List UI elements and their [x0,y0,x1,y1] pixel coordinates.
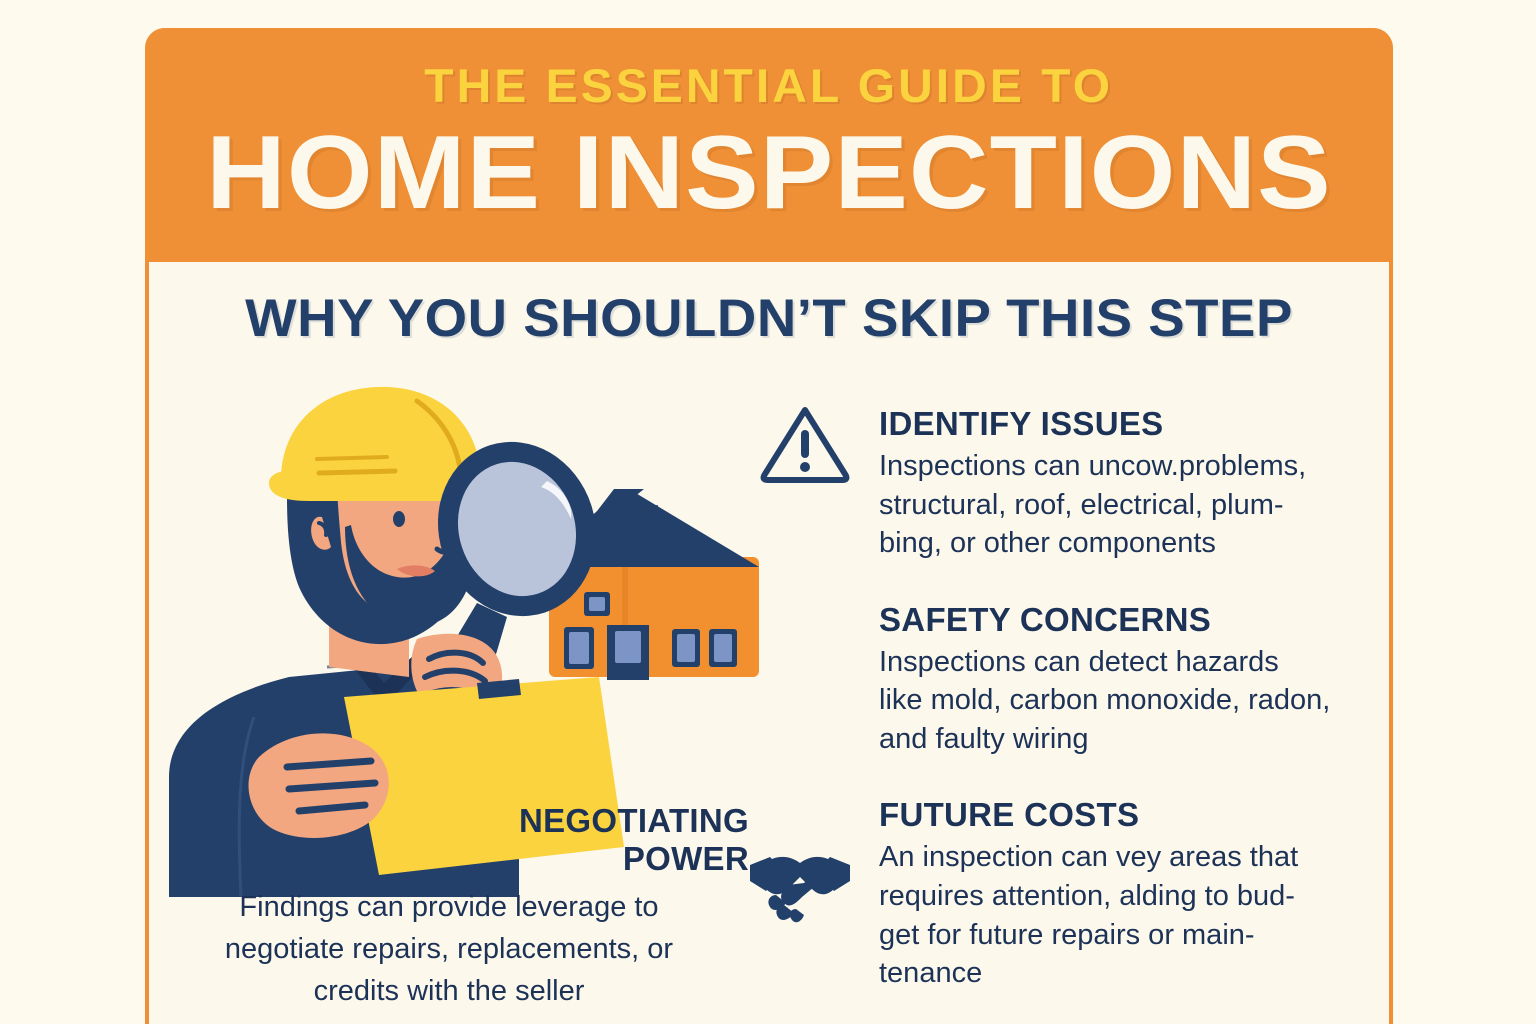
benefit-line-3: tenance [879,954,1379,993]
benefit-line-1: requires attention, alding to bud- [879,877,1379,916]
negotiating-power-line-0: Findings can provide leverage to [149,886,749,928]
benefit-line-2: and faulty wiring [879,720,1379,759]
benefit-body: An inspection can vey areas that require… [879,838,1379,992]
benefit-heading: IDENTIFY ISSUES [879,405,1379,443]
poster-card: THE ESSENTIAL GUIDE TO HOME INSPECTIONS … [145,28,1393,1024]
handshake-icon [744,845,856,925]
benefits-column: IDENTIFY ISSUES Inspections can uncow.pr… [879,405,1379,993]
benefit-line-2: get for future repairs or main- [879,916,1379,955]
benefit-block-future-costs: FUTURE COSTS An inspection can vey areas… [879,796,1379,992]
page-subtitle: WHY YOU SHOULDN’T SKIP THIS STEP [130,288,1407,349]
header-title: HOME INSPECTIONS [206,119,1332,228]
negotiating-power-block: NEGOTIATING POWER Findings can provide l… [389,802,749,1012]
benefit-line-0: An inspection can vey areas that [879,838,1379,877]
negotiating-power-heading: NEGOTIATING POWER [389,802,749,878]
benefit-line-0: Inspections can detect hazards [879,643,1379,682]
benefit-heading: SAFETY CONCERNS [879,601,1379,639]
benefit-line-2: bing, or other components [879,524,1379,563]
benefit-block-safety-concerns: SAFETY CONCERNS Inspections can detect h… [879,601,1379,759]
benefit-line-1: structural, roof, electrical, plum- [879,486,1379,525]
negotiating-power-heading-line1: NEGOTIATING [389,802,749,840]
benefit-block-identify-issues: IDENTIFY ISSUES Inspections can uncow.pr… [879,405,1379,563]
benefit-heading: FUTURE COSTS [879,796,1379,834]
warning-triangle-icon [759,402,851,486]
negotiating-power-body: Findings can provide leverage to negotia… [149,886,749,1012]
body-area: NEGOTIATING POWER Findings can provide l… [149,377,1389,1024]
header-band: THE ESSENTIAL GUIDE TO HOME INSPECTIONS [145,28,1393,262]
negotiating-power-line-1: negotiate repairs, replacements, or [149,928,749,970]
negotiating-power-heading-line2: POWER [389,840,749,878]
benefit-line-1: like mold, carbon monoxide, radon, [879,681,1379,720]
inspector-left-hand [249,733,389,838]
benefit-body: Inspections can detect hazards like mold… [879,643,1379,759]
infographic-poster: THE ESSENTIAL GUIDE TO HOME INSPECTIONS … [0,0,1536,1024]
header-kicker: THE ESSENTIAL GUIDE TO [425,62,1114,109]
benefit-line-0: Inspections can uncow.problems, [879,447,1379,486]
negotiating-power-line-2: credits with the seller [149,970,749,1012]
benefit-body: Inspections can uncow.problems, structur… [879,447,1379,563]
